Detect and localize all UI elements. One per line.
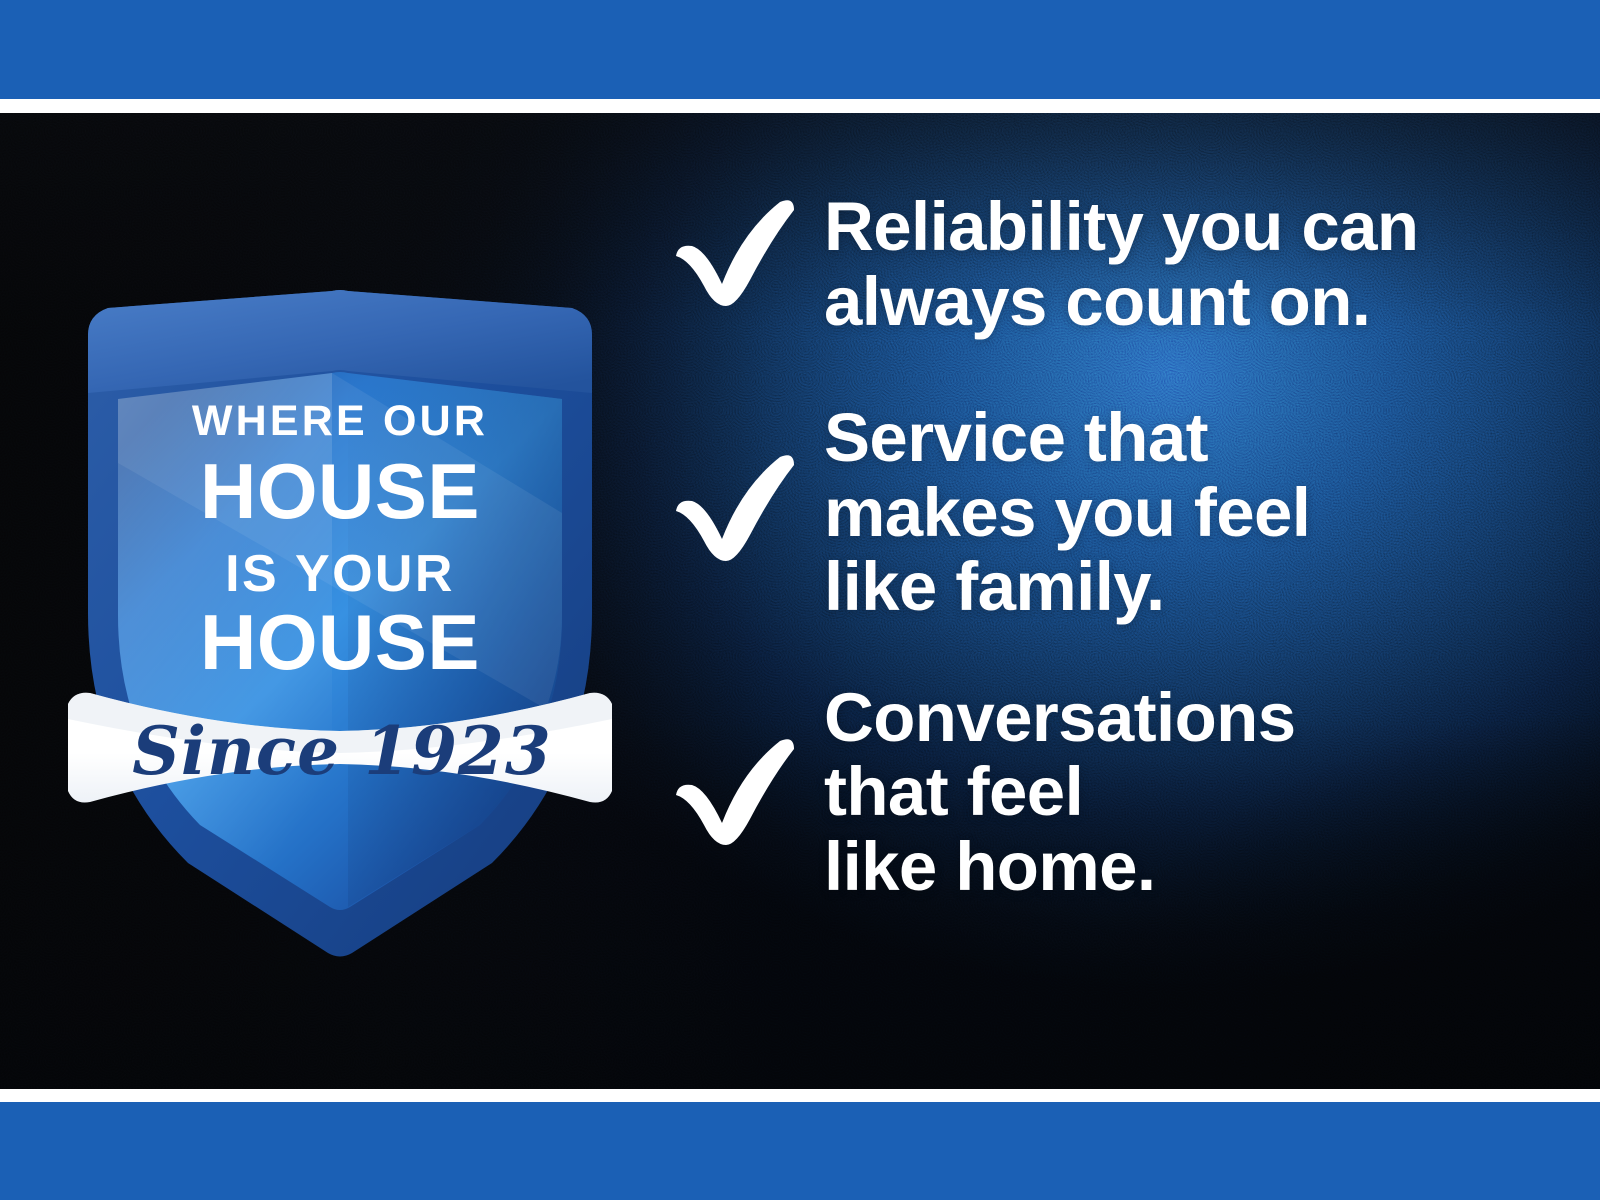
benefit-item-2: Service that makes you feel like family. [672, 401, 1512, 625]
benefit-item-1: Reliability you can always count on. [672, 190, 1512, 339]
bottom-brand-bar [0, 1102, 1600, 1200]
check-icon [672, 198, 798, 310]
top-brand-bar [0, 0, 1600, 99]
benefit-item-3: Conversations that feel like home. [672, 681, 1512, 905]
ribbon-since-text: Since 1923 [132, 712, 552, 790]
shield-line-2: HOUSE [200, 447, 480, 535]
shield-line-1: WHERE OUR [192, 397, 488, 445]
benefit-text-3: Conversations that feel like home. [824, 681, 1296, 905]
shield-line-4: HOUSE [200, 598, 480, 686]
benefit-text-1: Reliability you can always count on. [824, 190, 1418, 339]
promo-graphic-canvas: WHERE OUR HOUSE IS YOUR HOUSE Since 1923… [0, 0, 1600, 1200]
brand-shield-logo: WHERE OUR HOUSE IS YOUR HOUSE Since 1923 [60, 163, 620, 963]
shield-line-3: IS YOUR [225, 545, 455, 603]
benefit-text-2: Service that makes you feel like family. [824, 401, 1310, 625]
check-icon [672, 737, 798, 849]
check-icon [672, 453, 798, 565]
benefits-list: Reliability you can always count on. Ser… [672, 190, 1512, 904]
